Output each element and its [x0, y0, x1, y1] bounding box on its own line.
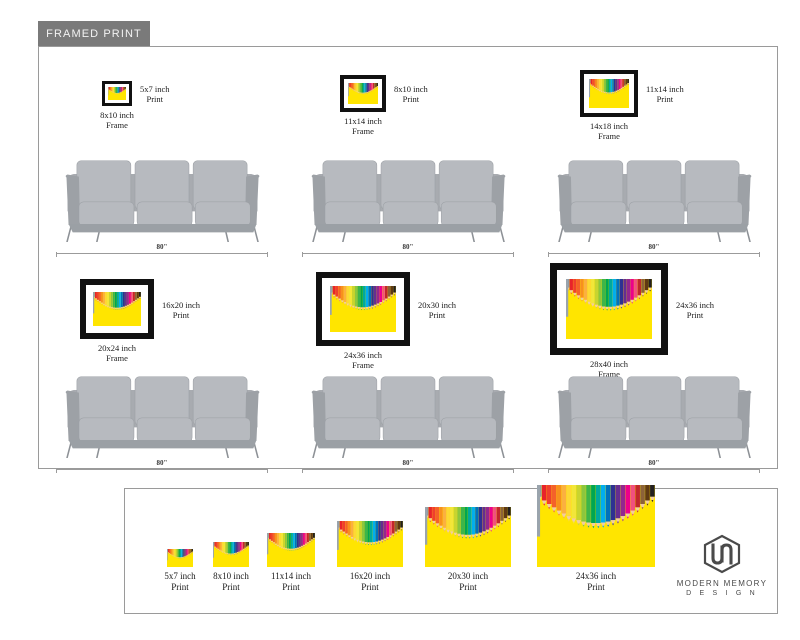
print-size-line-1: 16x20 inch — [162, 300, 200, 310]
dimension-value: 80" — [302, 242, 514, 252]
dimension-line — [56, 253, 268, 254]
dimension-line — [56, 469, 268, 470]
sofa-width-dimension: 80" — [548, 459, 760, 473]
dimension-line — [548, 253, 760, 254]
print-size-label: 8x10 inchPrint — [394, 84, 428, 104]
print-size-line-1: 24x36 inch — [536, 571, 656, 582]
artwork-image — [348, 83, 378, 104]
artwork-image[interactable] — [213, 542, 249, 567]
artwork-image — [589, 79, 629, 108]
print-size-line-1: 5x7 inch — [140, 84, 170, 94]
dimension-value: 80" — [302, 458, 514, 468]
tab-framed-print[interactable]: FRAMED PRINT — [38, 21, 150, 47]
print-size-label: 11x14 inchPrint — [646, 84, 684, 104]
framed-print-cell: 16x20 inchPrint20x24 inchFrame80" — [39, 263, 285, 479]
brand-logo: MODERN MEMORY D E S I G N — [666, 534, 778, 597]
artwork-image — [93, 292, 141, 326]
print-size-label: 24x36 inchPrint — [676, 300, 714, 320]
tab-framed-print-label: FRAMED PRINT — [46, 28, 142, 40]
framed-print-grid: 5x7 inchPrint8x10 inchFrame80"8x10 inchP… — [39, 47, 777, 468]
product-size-guide: FRAMED PRINT 5x7 inchPrint8x10 inchFrame… — [0, 0, 800, 640]
framed-artwork[interactable] — [580, 70, 638, 117]
sofa-illustration — [545, 361, 763, 461]
print-size-line-2: Print — [536, 582, 656, 593]
mat-board — [557, 270, 661, 348]
sofa-width-dimension: 80" — [302, 243, 514, 257]
artwork-image[interactable] — [267, 533, 315, 567]
sofa-width-dimension: 80" — [302, 459, 514, 473]
print-size-line-2: Print — [418, 310, 456, 320]
print-size-label: 24x36 inchPrint — [536, 571, 656, 592]
artwork-image — [566, 279, 652, 339]
sofa-illustration — [53, 145, 271, 245]
logo-line-2: D E S I G N — [666, 590, 778, 597]
print-size-line-2: Print — [408, 582, 528, 593]
mat-board — [584, 74, 634, 113]
print-size-label: 16x20 inchPrint — [162, 300, 200, 320]
print-size-line-1: 20x30 inch — [408, 571, 528, 582]
sofa-width-dimension: 80" — [548, 243, 760, 257]
artwork-image[interactable] — [425, 507, 511, 567]
mat-board — [322, 278, 404, 340]
print-size-line-1: 24x36 inch — [676, 300, 714, 310]
frame-size-line-1: 14x18 inch — [564, 121, 654, 131]
print-size-line-2: Print — [676, 310, 714, 320]
framed-print-cell: 11x14 inchPrint14x18 inchFrame80" — [531, 47, 777, 263]
sofa-width-dimension: 80" — [56, 459, 268, 473]
print-size-line-1: 8x10 inch — [394, 84, 428, 94]
print-size-line-1: 11x14 inch — [646, 84, 684, 94]
frame-size-line-1: 24x36 inch — [318, 350, 408, 360]
framed-print-cell: 5x7 inchPrint8x10 inchFrame80" — [39, 47, 285, 263]
sofa-illustration — [299, 145, 517, 245]
framed-print-cell: 20x30 inchPrint24x36 inchFrame80" — [285, 263, 531, 479]
artwork-image[interactable] — [337, 521, 403, 567]
print-size-label: 20x30 inchPrint — [418, 300, 456, 320]
print-size-line-2: Print — [162, 310, 200, 320]
framed-artwork[interactable] — [550, 263, 668, 355]
frame-size-label: 14x18 inchFrame — [564, 121, 654, 141]
frame-size-line-1: 11x14 inch — [318, 116, 408, 126]
dimension-line — [548, 469, 760, 470]
frame-size-line-2: Frame — [318, 126, 408, 136]
framed-print-cell: 24x36 inchPrint28x40 inchFrame80" — [531, 263, 777, 479]
print-size-label: 20x30 inchPrint — [408, 571, 528, 592]
hexagon-monogram-icon — [701, 534, 743, 574]
framed-artwork[interactable] — [80, 279, 154, 339]
frame-size-line-2: Frame — [564, 131, 654, 141]
print-size-label: 5x7 inchPrint — [140, 84, 170, 104]
dimension-line — [302, 253, 514, 254]
frame-size-label: 8x10 inchFrame — [72, 110, 162, 130]
mat-board — [86, 285, 148, 333]
artwork-image — [330, 286, 396, 332]
sofa-illustration — [299, 361, 517, 461]
dimension-value: 80" — [56, 458, 268, 468]
print-size-line-1: 20x30 inch — [418, 300, 456, 310]
sofa-illustration — [545, 145, 763, 245]
frame-size-line-1: 8x10 inch — [72, 110, 162, 120]
framed-artwork[interactable] — [340, 75, 386, 112]
framed-print-cell: 8x10 inchPrint11x14 inchFrame80" — [285, 47, 531, 263]
frame-size-line-1: 20x24 inch — [72, 343, 162, 353]
framed-artwork[interactable] — [102, 81, 132, 106]
dimension-line — [302, 469, 514, 470]
artwork-image[interactable] — [167, 549, 193, 567]
dimension-value: 80" — [548, 458, 760, 468]
sofa-width-dimension: 80" — [56, 243, 268, 257]
frame-size-label: 11x14 inchFrame — [318, 116, 408, 136]
logo-line-1: MODERN MEMORY — [666, 579, 778, 588]
dimension-value: 80" — [56, 242, 268, 252]
dimension-value: 80" — [548, 242, 760, 252]
print-size-line-2: Print — [646, 94, 684, 104]
framed-artwork[interactable] — [316, 272, 410, 346]
mat-board — [344, 79, 382, 108]
print-size-line-2: Print — [140, 94, 170, 104]
artwork-image — [108, 87, 126, 100]
framed-print-panel: 5x7 inchPrint8x10 inchFrame80"8x10 inchP… — [38, 46, 778, 469]
sofa-illustration — [53, 361, 271, 461]
artwork-image[interactable] — [537, 485, 655, 567]
frame-size-line-2: Frame — [72, 120, 162, 130]
mat-board — [105, 84, 129, 103]
print-size-line-2: Print — [394, 94, 428, 104]
